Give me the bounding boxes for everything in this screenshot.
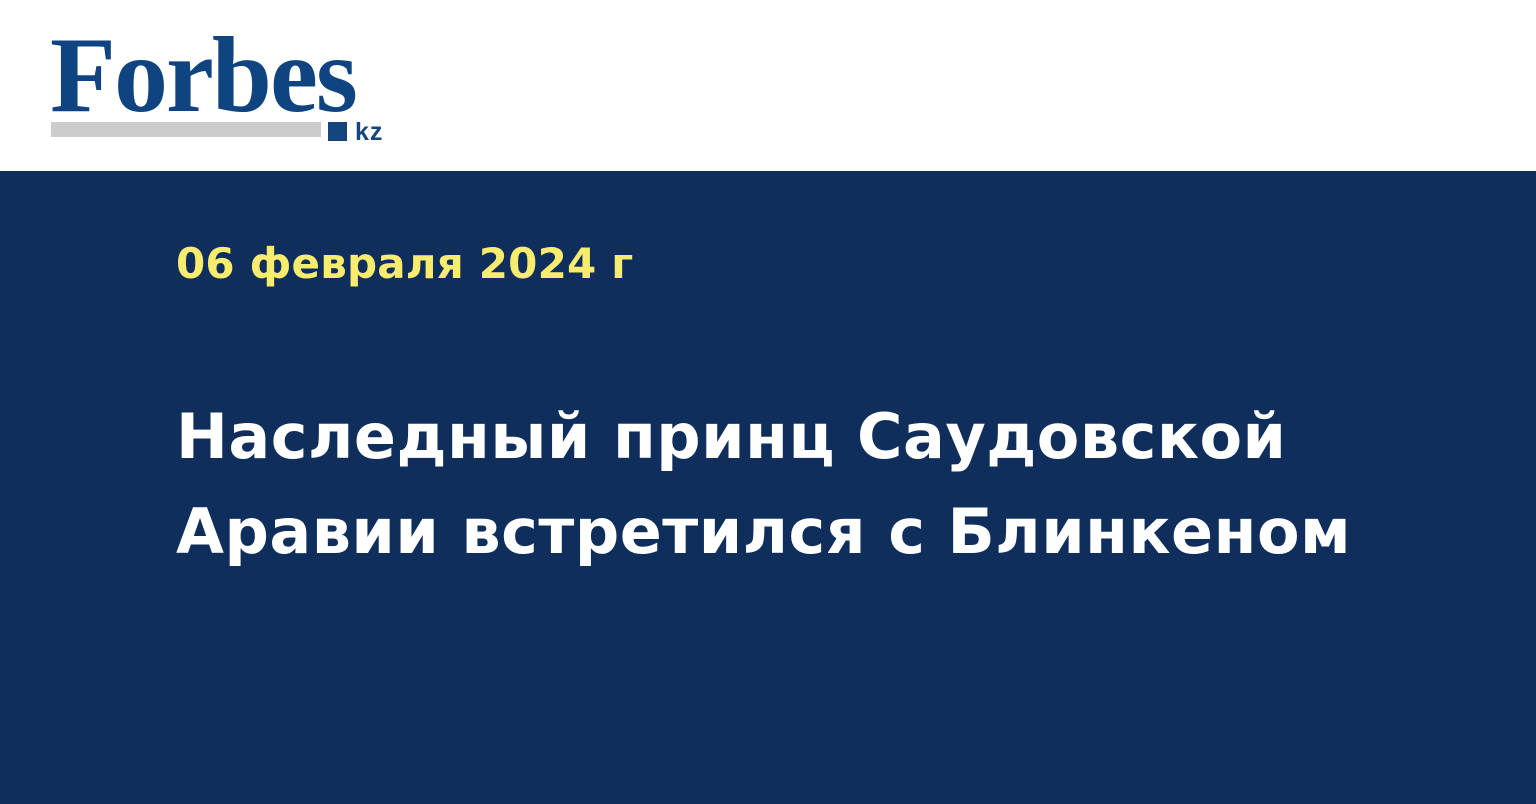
brand-underline-rule: [51, 122, 321, 137]
brand-suffix-label: kz: [355, 120, 383, 145]
article-card-page: Forbes kz 06 февраля 2024 г Наследный пр…: [0, 0, 1536, 804]
article-hero: 06 февраля 2024 г Наследный принц Саудов…: [0, 171, 1536, 804]
article-title-line-2: Аравии встретился с Блинкеном: [176, 484, 1306, 579]
forbes-kz-logo[interactable]: Forbes kz: [50, 22, 410, 142]
page-title: Наследный принц Саудовской Аравии встрет…: [176, 389, 1306, 579]
article-date: 06 февраля 2024 г: [176, 243, 633, 285]
site-header: Forbes kz: [0, 0, 1536, 171]
blue-square-icon: [328, 122, 347, 141]
brand-wordmark: Forbes: [50, 22, 356, 130]
article-title-line-1: Наследный принц Саудовской: [176, 389, 1306, 484]
